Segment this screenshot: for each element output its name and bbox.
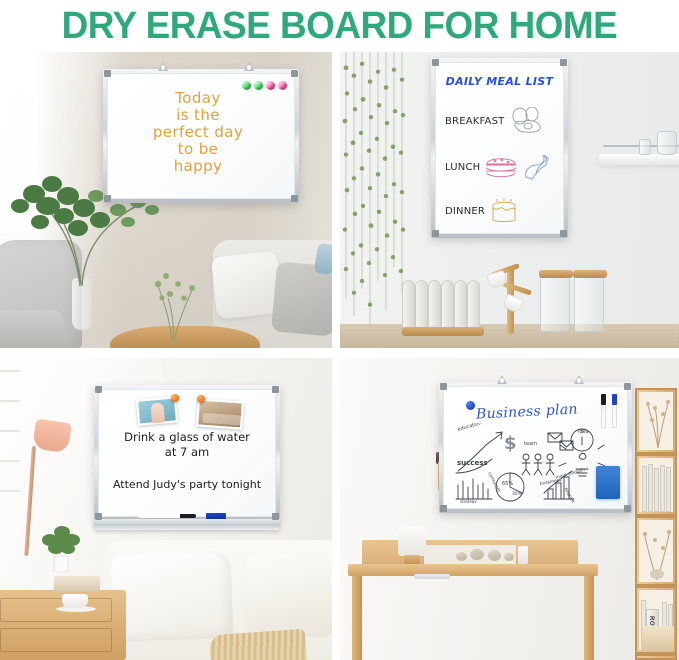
magnet-orange-1[interactable]: [171, 394, 179, 402]
desk-lamp-base: [404, 555, 420, 564]
desk-lamp-shade[interactable]: [398, 526, 426, 556]
board-line-1: Today: [108, 90, 288, 107]
whiteboard-kitchen[interactable]: DAILY MEAL LIST BREAKFAST: [431, 58, 568, 238]
frame-corner-bl: [440, 505, 447, 512]
pen-cup: [518, 546, 528, 564]
board-surface[interactable]: Drink a glass of water at 7 am Attend Ju…: [98, 389, 276, 517]
board-line-2: is the: [108, 107, 288, 124]
book: [654, 468, 659, 512]
magnet-pink-2[interactable]: [278, 81, 287, 90]
frame-corner-tr: [291, 70, 298, 77]
decor-stone: [504, 553, 514, 561]
stacked-books: [54, 576, 100, 592]
hanging-vine-plant: [340, 52, 408, 348]
marker-blue[interactable]: [612, 394, 617, 428]
frame-corner-tl: [432, 59, 439, 66]
svg-text:strategy: strategy: [460, 499, 477, 503]
board-line-5: happy: [108, 158, 288, 175]
board-handwriting: Today is the perfect day to be happy: [108, 90, 288, 175]
svg-text:65%: 65%: [502, 481, 513, 487]
mug: [502, 293, 524, 314]
desk-top: [348, 564, 598, 576]
board-note-secondary: Attend Judy's party tonight: [107, 478, 267, 491]
photo-family[interactable]: [196, 398, 244, 429]
knit-throw: [209, 629, 307, 660]
rack-base: [402, 327, 484, 336]
frame-corner-bl: [95, 513, 102, 520]
svg-text:education: education: [457, 423, 483, 433]
book: [642, 466, 647, 512]
meal-label: DINNER: [445, 206, 485, 217]
book: [666, 467, 671, 512]
pen-tray: [94, 519, 280, 530]
frame-corner-tr: [624, 383, 631, 390]
meal-list-title: DAILY MEAL LIST: [436, 75, 563, 88]
meal-label: LUNCH: [445, 162, 480, 173]
magnet-green-2[interactable]: [254, 81, 263, 90]
desk-leg: [352, 576, 362, 660]
magnet-blue[interactable]: [466, 401, 475, 410]
svg-text:$: $: [504, 433, 517, 454]
decor-stone: [488, 550, 501, 561]
board-title: Business plan: [476, 401, 578, 422]
whiteboard-bedroom[interactable]: Drink a glass of water at 7 am Attend Ju…: [94, 385, 280, 521]
shelf-compartment: [635, 454, 677, 516]
eraser-blue[interactable]: [596, 466, 620, 499]
plate: [415, 280, 428, 332]
wall-hanger-left: [497, 375, 507, 384]
frame-corner-tl: [95, 386, 102, 393]
jar-lid: [539, 270, 573, 278]
pillow: [111, 550, 234, 642]
book: [660, 465, 665, 512]
wall-hanger-right: [244, 62, 254, 71]
plate: [428, 280, 441, 332]
board-line-3: perfect day: [108, 124, 288, 141]
panel-home-office: ROCKY: [336, 353, 679, 660]
meal-row-dinner: DINNER: [445, 197, 563, 225]
frame-corner-br: [291, 195, 298, 202]
panel-living-room: Today is the perfect day to be happy: [0, 52, 336, 353]
frame-corner-bl: [104, 195, 111, 202]
magnet-pink-1[interactable]: [266, 81, 275, 90]
meal-label: BREAKFAST: [445, 116, 504, 127]
board-surface[interactable]: Today is the perfect day to be happy: [107, 73, 295, 199]
notebook: [414, 574, 450, 579]
frame-corner-tr: [272, 386, 279, 393]
frame-corner-tl: [104, 70, 111, 77]
shelf-plank: [599, 154, 679, 165]
svg-text:team: team: [524, 441, 537, 447]
glass-bottle: [657, 131, 677, 155]
book: [648, 464, 653, 512]
decor-stone: [470, 549, 484, 560]
panel-bedroom: Drink a glass of water at 7 am Attend Ju…: [0, 353, 336, 660]
meal-row-breakfast: BREAKFAST: [445, 107, 563, 135]
meal-row-lunch: LUNCH: [445, 153, 563, 181]
magnet-orange-2[interactable]: [197, 395, 205, 403]
magnet-row[interactable]: [242, 81, 287, 90]
chicken-drumstick-doodle: [522, 153, 552, 181]
frame-corner-br: [624, 505, 631, 512]
wall-shelf: [599, 136, 679, 168]
dish-rack: [402, 276, 482, 332]
board-surface[interactable]: Business plan education success consumer: [443, 386, 628, 509]
note-line-1: Drink a glass of water: [109, 430, 265, 445]
glass-cup: [639, 139, 651, 155]
glass-jar: [574, 276, 604, 332]
dried-plant: [643, 396, 673, 448]
frame-corner-bl: [432, 230, 439, 237]
board-surface[interactable]: DAILY MEAL LIST BREAKFAST: [435, 62, 564, 234]
pillow: [242, 554, 332, 639]
whiteboard-living-room[interactable]: Today is the perfect day to be happy: [103, 69, 299, 203]
drawer[interactable]: [0, 598, 112, 622]
glass-jar: [540, 276, 570, 332]
small-plant: [148, 264, 200, 342]
product-image-grid: Today is the perfect day to be happy: [0, 52, 679, 660]
wall-hanger-left: [158, 62, 168, 71]
note-line-2: at 7 am: [109, 445, 265, 460]
frame-corner-tl: [440, 383, 447, 390]
wall-hanger-right: [574, 375, 584, 384]
eggs-doodle: [508, 107, 550, 135]
marker-black[interactable]: [601, 394, 606, 428]
business-plan-doodles: education success consumer strategy 65%: [452, 423, 620, 503]
mug-tree: [488, 256, 532, 334]
frame-corner-tr: [560, 59, 567, 66]
svg-text:success: success: [457, 459, 488, 467]
decor-stone: [456, 552, 467, 561]
svg-text:35%: 35%: [512, 491, 523, 497]
frame-corner-br: [272, 513, 279, 520]
magnet-green-1[interactable]: [242, 81, 251, 90]
cake-doodle: [489, 197, 519, 225]
frame-corner-br: [560, 230, 567, 237]
page-title: DRY ERASE BOARD FOR HOME: [62, 7, 618, 45]
whiteboard-office[interactable]: Business plan education success consumer: [439, 382, 632, 513]
plate: [402, 280, 415, 332]
ladder-shelf: [0, 370, 20, 520]
plate: [454, 280, 467, 332]
svg-text:consumer: consumer: [486, 471, 502, 494]
shelf-compartment: [635, 388, 677, 454]
teacup: [62, 594, 88, 608]
burger-doodle: [484, 154, 518, 180]
potted-plant: [36, 522, 86, 572]
panel-kitchen: DAILY MEAL LIST BREAKFAST: [336, 52, 679, 353]
drawer[interactable]: [0, 628, 112, 652]
desk-leg: [584, 576, 594, 660]
plate: [441, 280, 454, 332]
board-line-4: to be: [108, 141, 288, 158]
jar-lid: [573, 270, 607, 278]
header-banner: DRY ERASE BOARD FOR HOME: [0, 0, 679, 52]
board-note-primary: Drink a glass of water at 7 am: [109, 430, 265, 460]
plate: [467, 280, 480, 332]
marker-black[interactable]: [138, 514, 196, 518]
